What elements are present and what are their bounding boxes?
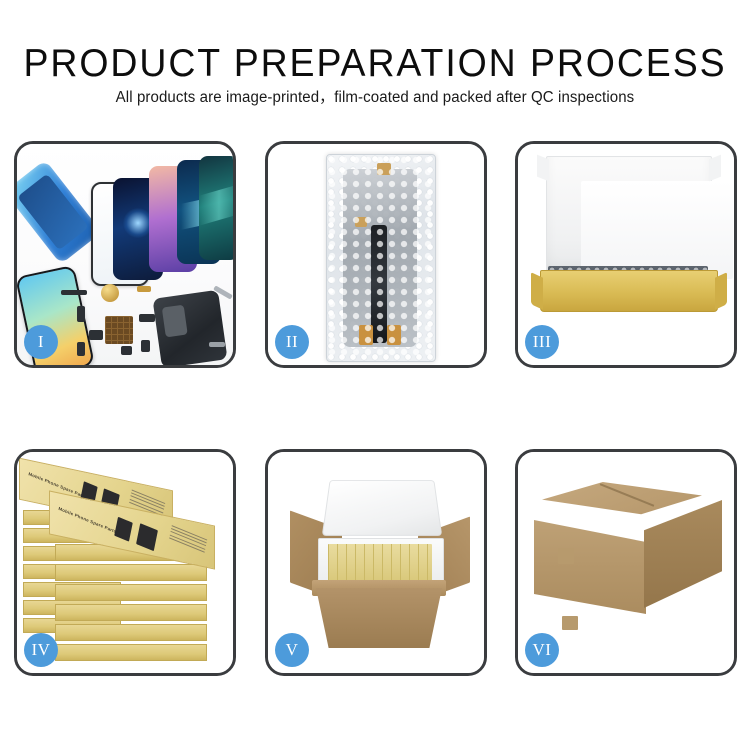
stacked-box <box>55 644 207 661</box>
page-title: PRODUCT PREPARATION PROCESS <box>15 42 735 86</box>
gold-flex-icon <box>137 286 151 292</box>
stacked-box <box>55 604 207 621</box>
tape-strip-mid-icon <box>355 217 367 227</box>
process-step-panel-4: Mobile Phone Spare Parts Mobile Phone Sp… <box>14 449 236 676</box>
phone-parts-photo: I <box>17 144 233 365</box>
foam-carton-photo: V <box>268 452 484 673</box>
stacked-box <box>55 564 207 581</box>
open-inner-box-photo: III <box>518 144 734 365</box>
carton-side-face-icon <box>644 500 722 608</box>
battery-tab-icon <box>141 340 150 352</box>
page-subtitle: All products are image-printed，film-coat… <box>11 88 739 108</box>
box-label-text: Mobile Phone Spare Parts <box>58 506 117 534</box>
phone-thumbnail-icon <box>136 523 158 551</box>
carton-body-icon <box>316 588 442 648</box>
flex-cable-icon <box>371 225 387 343</box>
phone-thumbnail-icon <box>114 517 133 542</box>
bubble-wrap-photo: II <box>268 144 484 365</box>
step-badge-4: IV <box>24 633 58 667</box>
process-step-panel-3: III <box>515 141 737 368</box>
yellow-box-tray-icon <box>540 270 718 312</box>
step-badge-3: III <box>525 325 559 359</box>
product-preparation-infographic: PRODUCT PREPARATION PROCESS All products… <box>0 0 750 750</box>
stacked-boxes-photo: Mobile Phone Spare Parts Mobile Phone Sp… <box>17 452 233 673</box>
process-step-grid: I II <box>14 141 736 676</box>
step-badge-2: II <box>275 325 309 359</box>
tiny-screw-part-icon <box>121 346 132 355</box>
step-badge-6: VI <box>525 633 559 667</box>
foam-insert-icon <box>581 181 733 279</box>
camera-module-icon <box>139 314 155 322</box>
speaker-part-icon <box>89 330 103 340</box>
process-step-panel-2: II <box>265 141 487 368</box>
tape-patch-icon <box>558 548 574 564</box>
process-step-panel-5: V <box>265 449 487 676</box>
blue-phone-back-icon <box>17 160 102 265</box>
sealed-carton-photo: VI <box>518 452 734 673</box>
stacked-box <box>55 584 207 601</box>
step-badge-5: V <box>275 633 309 667</box>
opened-phone-chassis-icon <box>152 290 227 365</box>
bubble-wrap-bag-icon <box>326 154 436 362</box>
carton-front-face-icon <box>534 514 646 614</box>
stacked-box <box>55 624 207 641</box>
tape-patch-icon <box>562 616 578 630</box>
yellow-boxes-inside-icon <box>328 544 432 582</box>
process-step-panel-1: I <box>14 141 236 368</box>
chip-array-icon <box>105 316 133 344</box>
foam-cooler-lid-icon <box>322 480 442 536</box>
connector-icon <box>77 306 85 322</box>
step-badge-1: I <box>24 325 58 359</box>
gold-component-icon <box>101 284 119 302</box>
process-step-panel-6: VI <box>515 449 737 676</box>
sim-tray-icon <box>77 342 85 356</box>
screwdriver-icon <box>209 342 225 347</box>
tape-strip-top-icon <box>377 163 391 175</box>
small-part-icon <box>61 290 87 295</box>
white-box-lid-icon <box>546 156 712 276</box>
box-spec-lines <box>169 525 207 554</box>
green-phone-icon <box>199 156 233 260</box>
